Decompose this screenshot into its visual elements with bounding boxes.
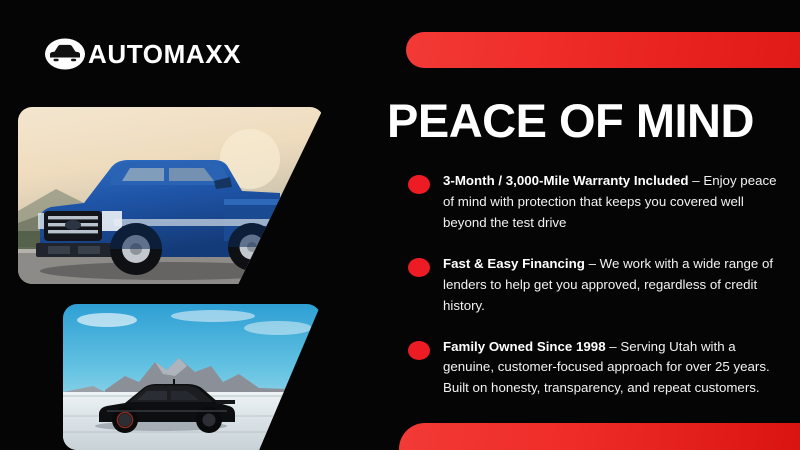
bottom-red-accent-bar bbox=[399, 423, 800, 450]
list-item: Family Owned Since 1998 – Serving Utah w… bbox=[387, 337, 787, 400]
bullet-dot-icon bbox=[408, 175, 430, 194]
benefits-list: 3-Month / 3,000-Mile Warranty Included –… bbox=[387, 171, 787, 399]
content-column: PEACE OF MIND 3-Month / 3,000-Mile Warra… bbox=[387, 96, 787, 399]
top-red-accent-bar bbox=[406, 32, 800, 68]
list-item: 3-Month / 3,000-Mile Warranty Included –… bbox=[387, 171, 787, 234]
benefit-title: Family Owned Since 1998 bbox=[443, 339, 606, 354]
brand-logo: AUTOMAXX bbox=[44, 34, 241, 74]
benefit-text: Family Owned Since 1998 – Serving Utah w… bbox=[443, 337, 787, 400]
brand-name: AUTOMAXX bbox=[88, 41, 241, 67]
bullet-dot-icon bbox=[408, 341, 430, 360]
black-sedan-photo bbox=[63, 304, 321, 450]
benefit-text: Fast & Easy Financing – We work with a w… bbox=[443, 254, 787, 317]
page-title: PEACE OF MIND bbox=[387, 96, 787, 145]
benefit-dash: – bbox=[606, 339, 621, 354]
benefit-dash: – bbox=[585, 256, 600, 271]
list-item: Fast & Easy Financing – We work with a w… bbox=[387, 254, 787, 317]
bullet-dot-icon bbox=[408, 258, 430, 277]
blue-pickup-truck-photo bbox=[18, 107, 324, 284]
car-in-circle-icon bbox=[44, 37, 86, 71]
benefit-text: 3-Month / 3,000-Mile Warranty Included –… bbox=[443, 171, 787, 234]
promo-slide: AUTOMAXX bbox=[0, 0, 800, 450]
benefit-dash: – bbox=[689, 173, 704, 188]
benefit-title: Fast & Easy Financing bbox=[443, 256, 585, 271]
benefit-title: 3-Month / 3,000-Mile Warranty Included bbox=[443, 173, 689, 188]
